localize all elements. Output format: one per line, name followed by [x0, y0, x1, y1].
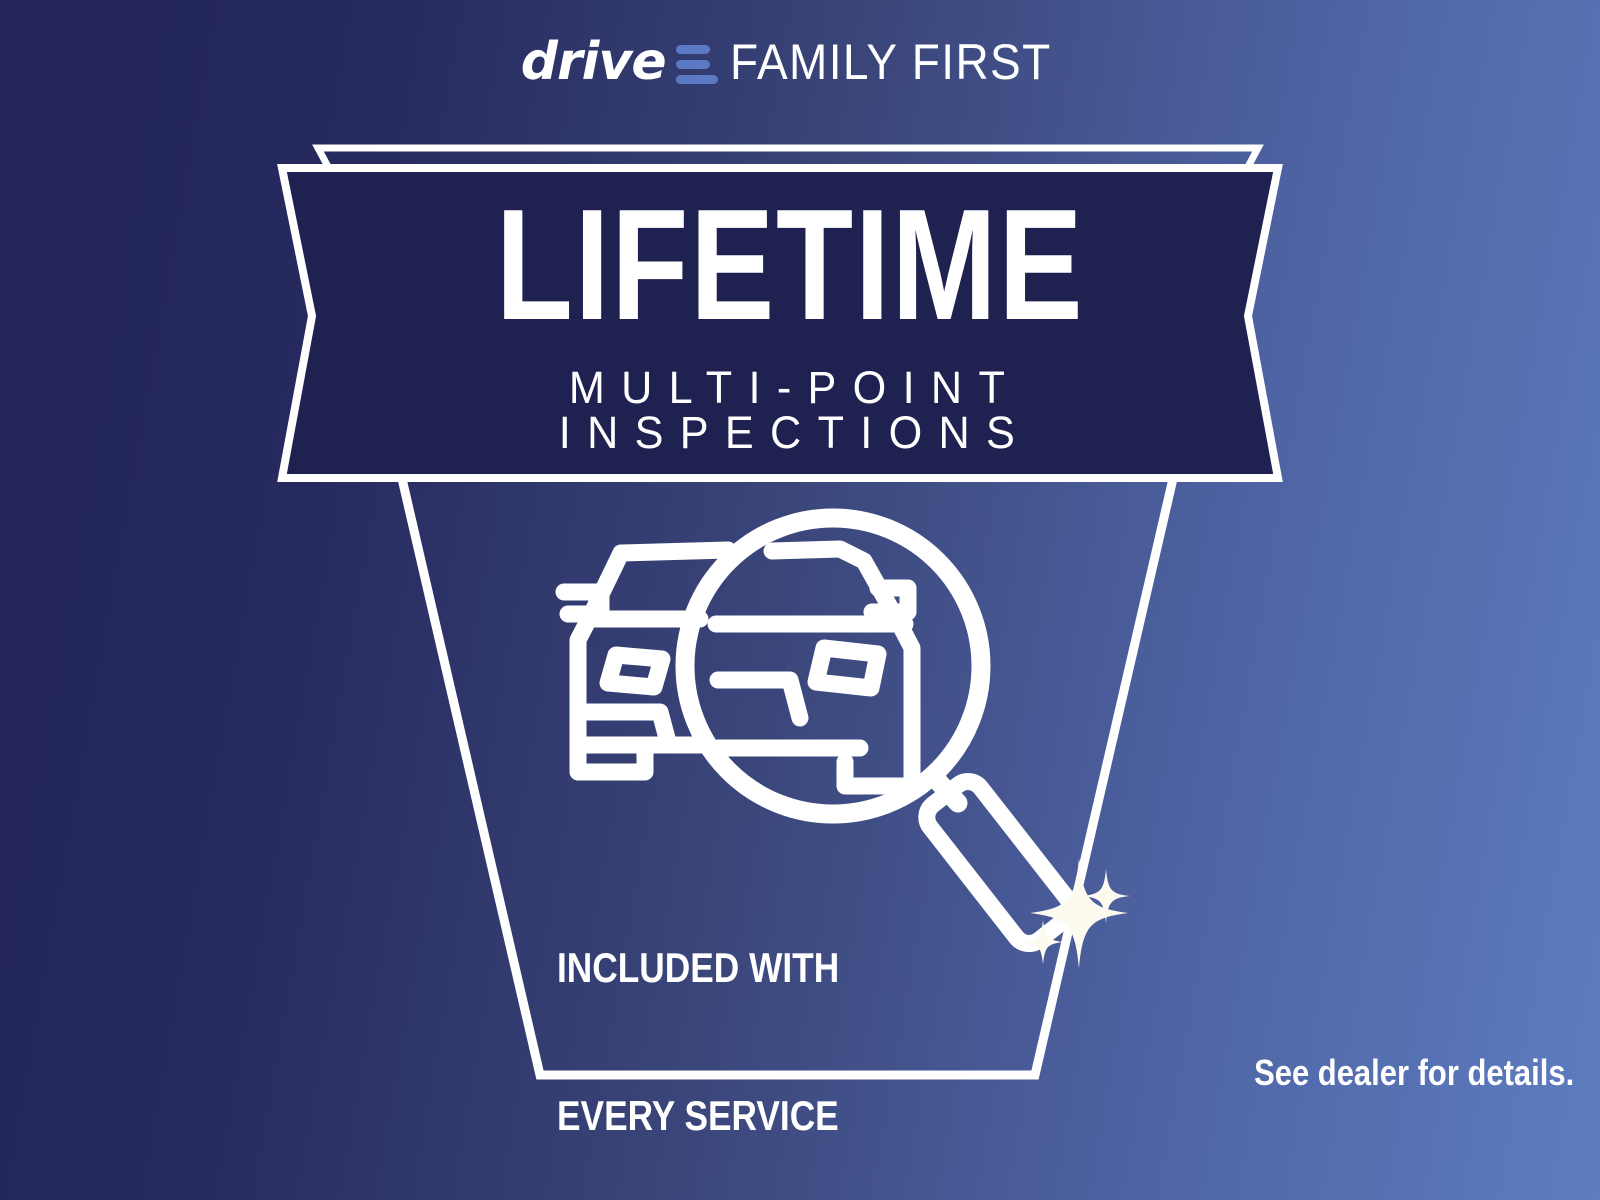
inclusion-caption: INCLUDED WITH EVERY SERVICE	[557, 845, 839, 1200]
sparkle-star-icon-small	[1023, 920, 1063, 964]
brand-header: drive FAMILY FIRST	[0, 36, 1600, 88]
car-outline-background	[564, 550, 728, 772]
magnifier-lens	[685, 518, 981, 814]
sparkle-star-icon-medium	[1082, 869, 1130, 923]
magnifier-neck	[934, 777, 958, 803]
sparkle-group	[1023, 858, 1130, 968]
page-subtitle: MULTI-POINT INSPECTIONS	[329, 365, 1260, 455]
inclusion-caption-line2: EVERY SERVICE	[557, 1091, 839, 1140]
banner-ghost-outline	[318, 148, 1258, 176]
page-title: LIFETIME	[398, 192, 1182, 339]
promo-graphic: drive FAMILY FIRST	[0, 0, 1600, 1200]
banner-text-group: LIFETIME MULTI-POINT INSPECTIONS	[300, 172, 1280, 455]
brand-wordmark: drive	[521, 36, 666, 88]
three-bars-icon	[676, 45, 718, 84]
sparkle-star-icon-large	[1030, 858, 1128, 968]
inclusion-caption-line1: INCLUDED WITH	[557, 943, 839, 992]
ribbon-banner	[282, 168, 1278, 478]
magnifier-handle	[920, 775, 1076, 950]
car-outline-magnified	[716, 549, 912, 786]
brand-tagline: FAMILY FIRST	[730, 37, 1052, 87]
disclaimer-text: See dealer for details.	[1254, 1052, 1574, 1094]
